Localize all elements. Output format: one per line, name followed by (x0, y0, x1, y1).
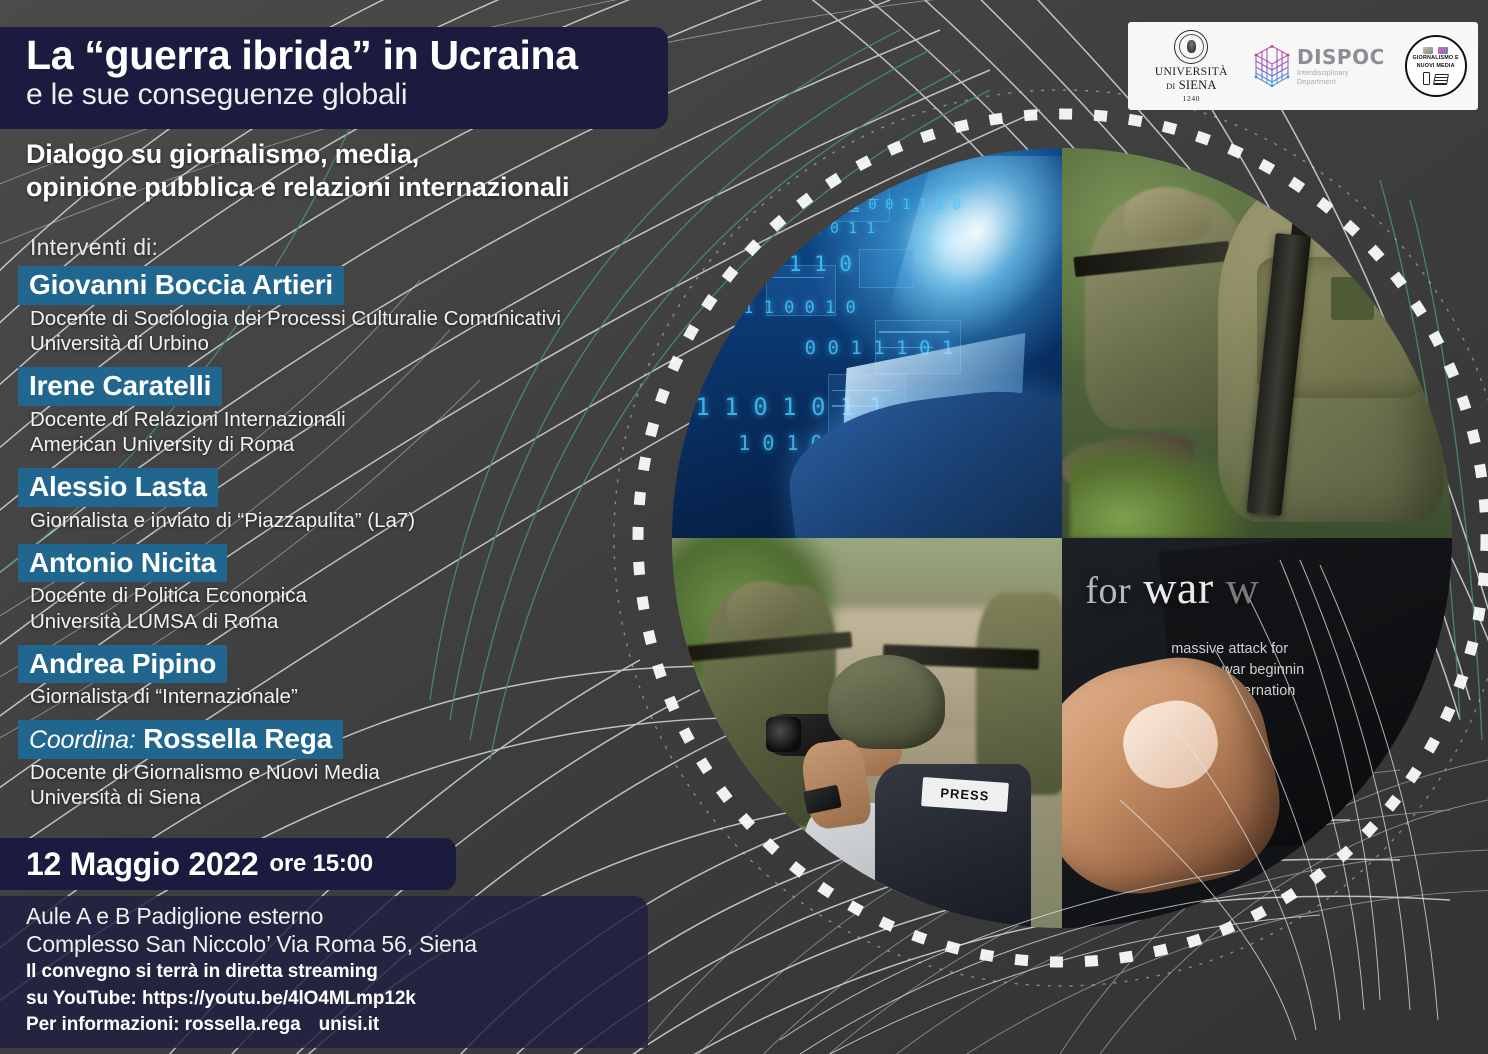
soldier-face (1316, 195, 1375, 242)
code-line (793, 210, 859, 212)
speaker-role-line2: American University di Roma (30, 433, 718, 457)
binary-column: 1 0 0 1 1 1 0 (851, 195, 961, 215)
speaker-role-line1: Docente di Sociologia dei Processi Cultu… (30, 307, 718, 331)
speakers-list: Giovanni Boccia Artieri Docente di Socio… (18, 266, 718, 821)
page-subtitle: e le sue conseguenze globali (26, 78, 668, 112)
dispoc-text: DISPOC Interdisciplinary Department (1297, 47, 1385, 85)
dispoc-name: DISPOC (1297, 47, 1385, 67)
page-title: La “guerra ibrida” in Ucraina (26, 33, 668, 77)
speaker-item: Irene Caratelli Docente di Relazioni Int… (18, 367, 718, 457)
unisi-year: 1240 (1183, 94, 1200, 103)
speaker-item: Andrea Pipino Giornalista di “Internazio… (18, 645, 718, 709)
speaker-role-line2: Università LUMSA di Roma (30, 610, 718, 634)
press-vest-label: PRESS (921, 777, 1009, 812)
unisi-label-line1: UNIVERSITÀ (1155, 66, 1228, 78)
war-headline-ghost: w (1226, 562, 1260, 613)
venue-info-box: Aule A e B Padiglione esterno Complesso … (0, 896, 648, 1048)
speaker-role-line2: Università di Urbino (30, 332, 718, 356)
speaker-role-line1: Giornalista e inviato di “Piazzapulita” … (30, 509, 718, 533)
dispoc-cube-icon (1254, 45, 1290, 87)
foreground-foliage (1070, 437, 1249, 538)
cyber-binary-image: 1 0 1 0 1 1 0 0 1 1 0 0 1 0 1 1 0 1 0 1 … (672, 148, 1062, 538)
contact-email-domain[interactable]: unisi.it (319, 1014, 379, 1035)
moderator-role-line1: Docente di Giornalismo e Nuovi Media (30, 761, 718, 785)
speaker-role-line1: Docente di Relazioni Internazionali (30, 408, 718, 432)
image-collage: 1 0 1 0 1 1 0 0 1 1 0 0 1 0 1 1 0 1 0 1 … (672, 148, 1452, 928)
war-body-line1: massive attack for (1171, 639, 1452, 660)
collage-quadrant-war: for war w massive attack for oldiers, wa… (1062, 538, 1452, 928)
speaker-item: Antonio Nicita Docente di Politica Econo… (18, 544, 718, 634)
venue-address: Via Roma 56, Siena (276, 931, 477, 957)
smartphone-icon (1423, 72, 1430, 85)
moderator-prefix: Coordina: (29, 726, 136, 754)
gnm-mini-dispoc-icon (1438, 47, 1448, 54)
description-line2: opinione pubblica e relazioni internazio… (26, 171, 686, 204)
logo-universita-di-siena: UNIVERSITÀ DI SIENA 1240 (1139, 30, 1243, 103)
unisi-di: DI (1166, 81, 1175, 91)
poster-root: UNIVERSITÀ DI SIENA 1240 (0, 0, 1488, 1054)
venue-line1: Aule A e B Padiglione esterno (26, 903, 648, 931)
date-banner: 12 Maggio 2022 ore 15:00 (0, 838, 456, 890)
gnm-mini-unisi-icon (1423, 47, 1433, 54)
logo-dispoc: DISPOC Interdisciplinary Department (1254, 45, 1394, 87)
armed-soldiers-image (1062, 148, 1452, 538)
speaker-role-line1: Docente di Politica Economica (30, 584, 718, 608)
binary-column: 1 1 0 1 0 1 1 (758, 218, 875, 240)
speaker-name: Andrea Pipino (18, 645, 227, 684)
second-soldier-helmet (1124, 187, 1210, 242)
contact-line: Per informazioni: rossella.regaunisi.it (26, 1013, 648, 1037)
war-headline-war: war (1143, 562, 1213, 613)
gnm-mini-logos (1423, 47, 1448, 54)
event-description: Dialogo su giornalismo, media, opinione … (26, 138, 686, 205)
dispoc-sub2: Department (1297, 78, 1385, 85)
logo-bar: UNIVERSITÀ DI SIENA 1240 (1128, 22, 1478, 110)
title-banner: La “guerra ibrida” in Ucraina e le sue c… (0, 27, 668, 129)
moderator-name: Rossella Rega (143, 723, 332, 754)
moderator-item: Coordina: Rossella Rega Docente di Giorn… (18, 720, 718, 810)
moderator-role-line2: Università di Siena (30, 786, 718, 810)
venue-line2: Complesso San Niccolo’ Via Roma 56, Sien… (26, 931, 648, 959)
dispoc-sub1: Interdisciplinary (1297, 69, 1385, 76)
venue-complex: Complesso San Niccolo’ (26, 931, 270, 957)
war-headline: for war w (1085, 561, 1259, 614)
speaker-name: Alessio Lasta (18, 468, 218, 507)
gnm-label-line1: GIORNALISMO E (1412, 55, 1458, 62)
collage-quadrant-cyber: 1 0 1 0 1 1 0 0 1 1 0 0 1 0 1 1 0 1 0 1 … (672, 148, 1062, 538)
event-date: 12 Maggio 2022 (26, 846, 258, 883)
logo-giornalismo-nuovi-media: GIORNALISMO E NUOVI MEDIA (1405, 35, 1467, 97)
speaker-name: Antonio Nicita (18, 544, 227, 583)
photographer-helmet (828, 655, 945, 749)
event-time: ore 15:00 (269, 850, 373, 878)
description-line1: Dialogo su giornalismo, media, (26, 138, 686, 171)
contact-email-user[interactable]: rossella.rega (185, 1014, 301, 1035)
speaker-item: Giovanni Boccia Artieri Docente di Socio… (18, 266, 718, 356)
soldier-patch (1331, 277, 1374, 320)
background-soldier-helmet (727, 581, 801, 636)
gnm-label-line2: NUOVI MEDIA (1417, 63, 1455, 70)
war-headline-for: for (1085, 570, 1131, 612)
newspaper-icon (1433, 74, 1449, 85)
press-photographer-image: PRESS (672, 538, 1062, 928)
code-line (879, 331, 949, 333)
war-newspaper-image: for war w massive attack for oldiers, wa… (1062, 538, 1452, 928)
speaker-name: Giovanni Boccia Artieri (18, 266, 344, 305)
unisi-label-line2: DI SIENA (1166, 78, 1217, 93)
contact-label: Per informazioni: (26, 1014, 179, 1035)
unisi-siena: SIENA (1179, 78, 1217, 92)
camera-lens (766, 717, 801, 752)
streaming-line1: Il convegno si terrà in diretta streamin… (26, 960, 648, 984)
collage-quadrant-press: PRESS (672, 538, 1062, 928)
speakers-heading: Interventi di: (30, 234, 158, 261)
streaming-line2[interactable]: su YouTube: https://youtu.be/4lO4MLmp12k (26, 987, 648, 1011)
binary-column: 0 1 1 0 0 1 0 (723, 296, 856, 321)
speaker-role-line1: Giornalista di “Internazionale” (30, 685, 718, 709)
speaker-name: Irene Caratelli (18, 367, 222, 406)
collage-quadrant-soldiers (1062, 148, 1452, 538)
moderator-name-box: Coordina: Rossella Rega (18, 720, 343, 759)
code-block (859, 249, 914, 288)
speaker-item: Alessio Lasta Giornalista e inviato di “… (18, 468, 718, 532)
unisi-seal-icon (1174, 30, 1208, 64)
gnm-icon-row (1423, 72, 1448, 85)
